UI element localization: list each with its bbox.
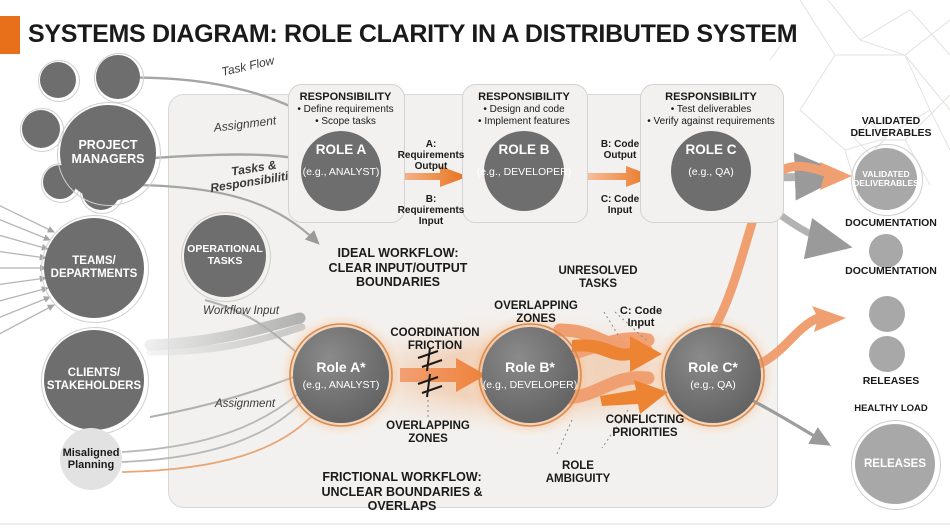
releases-node-small-2[interactable] (869, 336, 905, 372)
annotation-overlapping-zones-bottom: OVERLAPPING ZONES (375, 420, 481, 446)
friction-nodes-layer (0, 0, 950, 530)
annotation-overlapping-zones-top: OVERLAPPING ZONES (483, 300, 589, 326)
validated-deliverables-ring (851, 144, 923, 216)
validated-deliverables-heading: VALIDATED DELIVERABLES (836, 116, 946, 140)
annotation-conflicting-priorities: CONFLICTING PRIORITIES (590, 414, 700, 440)
diagram-canvas: SYSTEMS DIAGRAM: ROLE CLARITY IN A DISTR… (0, 0, 950, 530)
annotation-unresolved-tasks: UNRESOLVED TASKS (545, 265, 651, 291)
documentation-heading: DOCUMENTATION (834, 218, 948, 230)
frictional-workflow-caption-line2: UNCLEAR BOUNDARIES & OVERLAPS (290, 485, 514, 513)
annotation-role-ambiguity: ROLE AMBIGUITY (532, 460, 624, 486)
releases-caption: RELEASES (846, 376, 936, 388)
annotation-coordination-friction: COORDINATION FRICTION (382, 327, 488, 353)
frictional-workflow-caption-line1: FRICTIONAL WORKFLOW: (300, 470, 504, 484)
releases-node-ring (851, 420, 941, 510)
healthy-load-heading: HEALTHY LOAD (838, 404, 944, 415)
releases-node-small-1[interactable] (869, 296, 905, 332)
documentation-node[interactable] (869, 234, 903, 268)
annotation-c-code-input-friction: C: Code Input (605, 305, 677, 330)
documentation-caption: DOCUMENTATION (834, 266, 948, 278)
